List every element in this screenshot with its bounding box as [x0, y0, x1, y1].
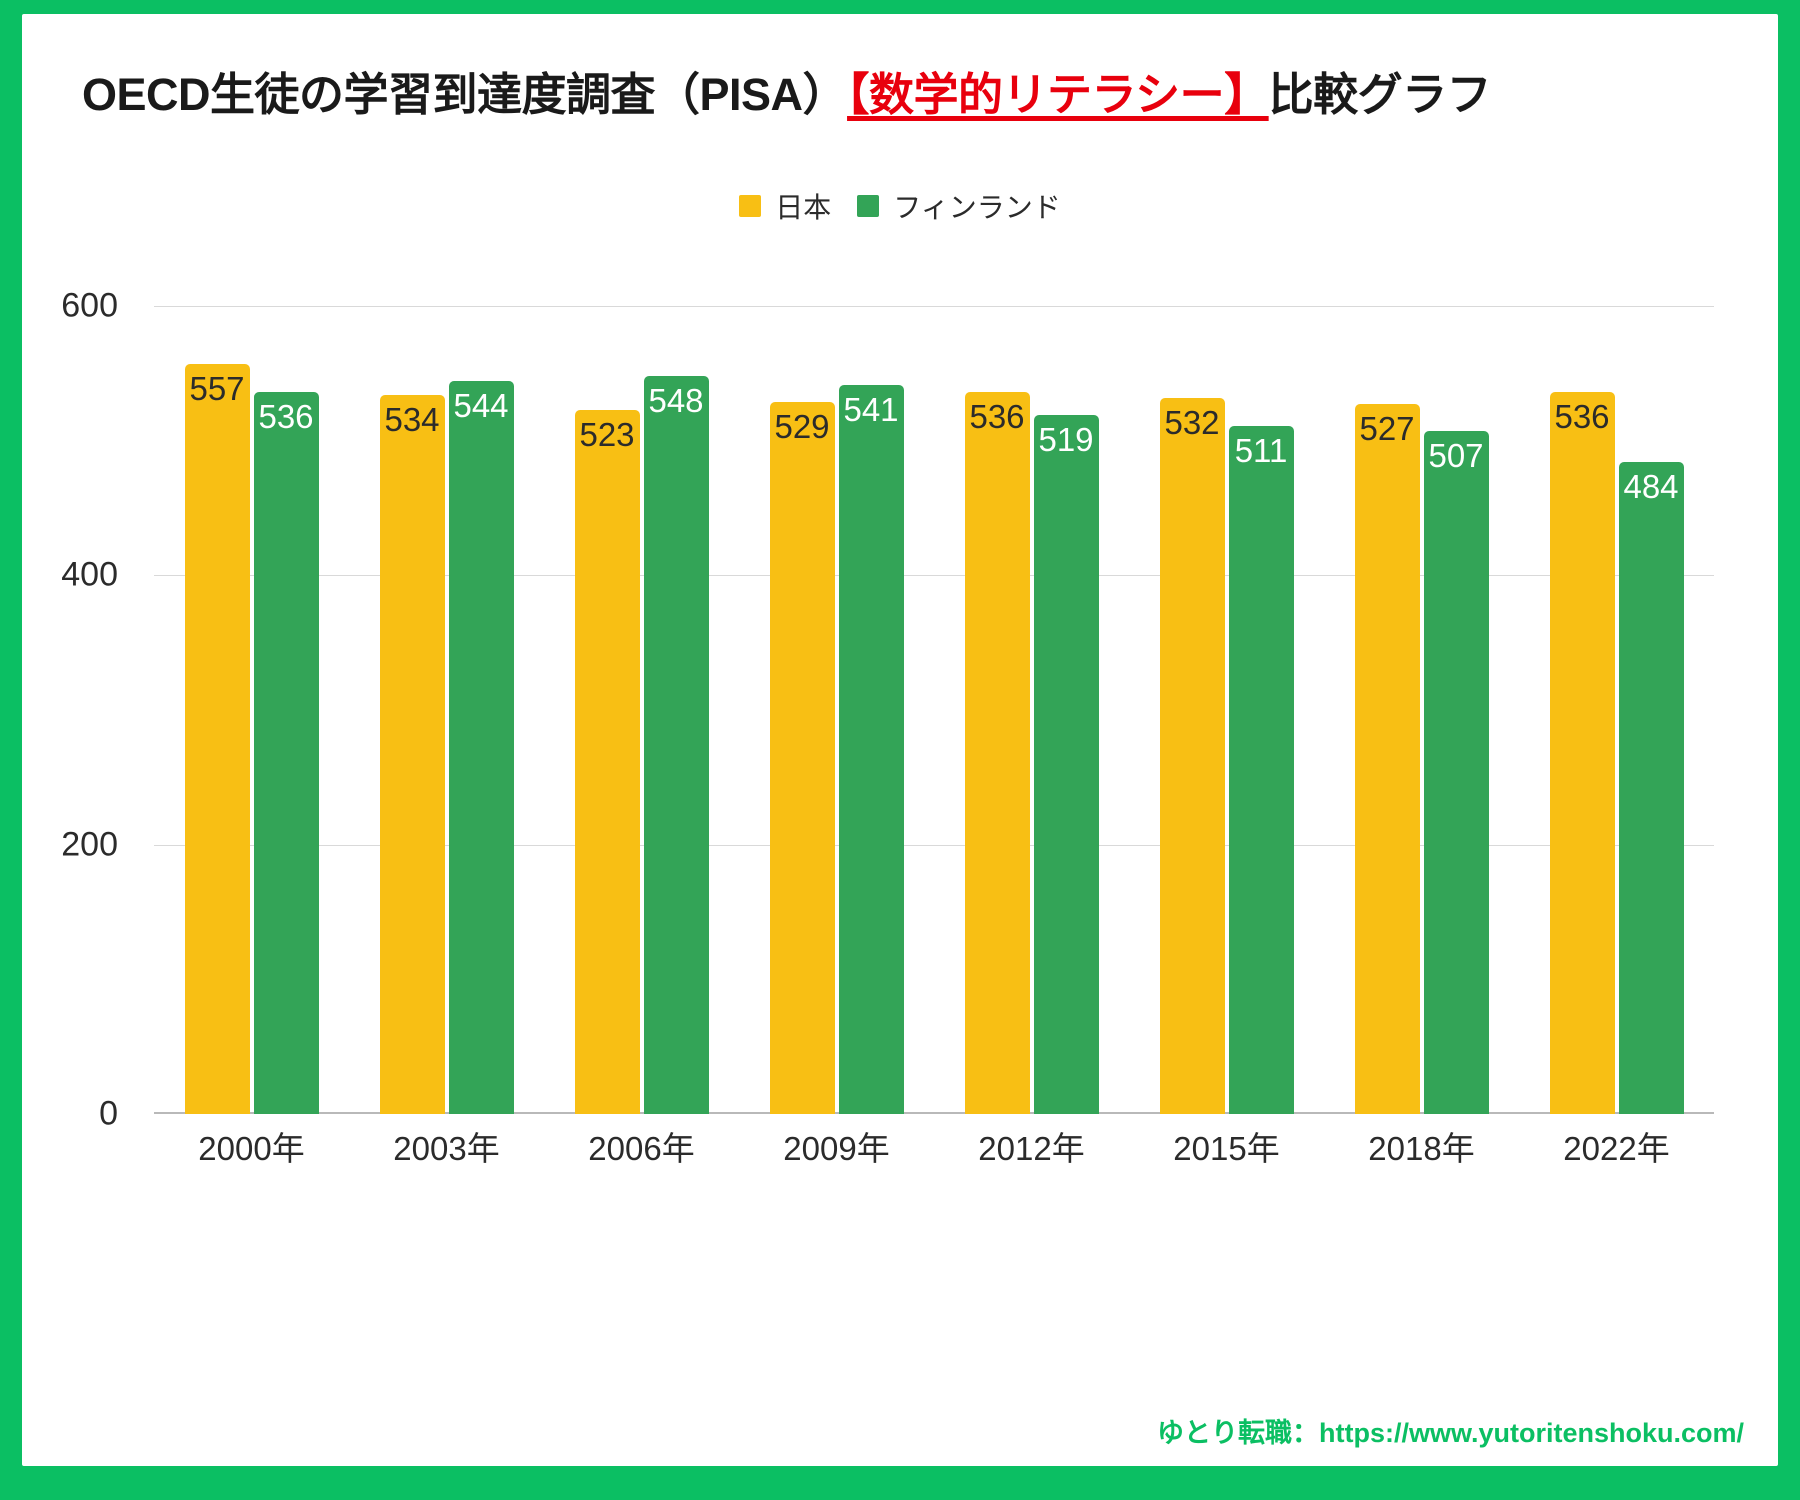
bar-finland[interactable]: 544: [449, 381, 514, 1114]
plot-area: 0200400600 55753653454452354852954153651…: [154, 279, 1714, 1114]
bar-value-label: 527: [1359, 412, 1414, 445]
bar-value-label: 541: [843, 393, 898, 426]
legend-item-japan[interactable]: 日本: [739, 186, 831, 226]
bar-group: 523548: [544, 279, 739, 1114]
title-highlight: 【数学的リテラシー】: [847, 69, 1269, 120]
bar-value-label: 534: [384, 403, 439, 436]
x-axis-label: 2000年: [154, 1122, 349, 1170]
bar-group: 529541: [739, 279, 934, 1114]
bar-finland[interactable]: 548: [644, 376, 709, 1114]
bar-value-label: 511: [1235, 434, 1288, 467]
bar-value-label: 507: [1428, 439, 1483, 472]
bar-value-label: 536: [258, 400, 313, 433]
footer-credit[interactable]: ゆとり転職：https://www.yutoritenshoku.com/: [1157, 1411, 1744, 1450]
bar-japan[interactable]: 534: [380, 395, 445, 1114]
page-title: OECD生徒の学習到達度調査（PISA）【数学的リテラシー】比較グラフ: [82, 58, 1722, 123]
legend-item-finland[interactable]: フィンランド: [857, 186, 1060, 226]
title-suffix: 比較グラフ: [1269, 69, 1492, 120]
x-axis-label: 2012年: [934, 1122, 1129, 1170]
x-axis-label: 2006年: [544, 1122, 739, 1170]
bar-group: 536484: [1519, 279, 1714, 1114]
x-axis-labels: 2000年2003年2006年2009年2012年2015年2018年2022年: [154, 1122, 1714, 1170]
x-axis-label: 2015年: [1129, 1122, 1324, 1170]
x-axis-label: 2022年: [1519, 1122, 1714, 1170]
bar-finland[interactable]: 511: [1229, 426, 1294, 1114]
bar-japan[interactable]: 536: [965, 392, 1030, 1114]
x-axis-label: 2003年: [349, 1122, 544, 1170]
bar-finland[interactable]: 541: [839, 385, 904, 1114]
bar-value-label: 536: [969, 400, 1024, 433]
bar-value-label: 536: [1554, 400, 1609, 433]
legend-swatch-finland: [857, 195, 879, 217]
bar-value-label: 544: [453, 389, 508, 422]
bar-finland[interactable]: 519: [1034, 415, 1099, 1114]
legend-label-finland: フィンランド: [893, 186, 1060, 226]
y-axis-tick-label: 400: [0, 556, 118, 595]
legend-label-japan: 日本: [775, 186, 831, 226]
bar-group: 557536: [154, 279, 349, 1114]
bar-value-label: 557: [189, 372, 244, 405]
bar-group: 536519: [934, 279, 1129, 1114]
bar-finland[interactable]: 484: [1619, 462, 1684, 1114]
bar-japan[interactable]: 557: [185, 364, 250, 1114]
bar-value-label: 532: [1164, 406, 1219, 439]
y-axis-tick-label: 200: [0, 825, 118, 864]
bar-value-label: 548: [648, 384, 703, 417]
x-axis-label: 2009年: [739, 1122, 934, 1170]
bar-finland[interactable]: 507: [1424, 431, 1489, 1114]
bar-japan[interactable]: 527: [1355, 404, 1420, 1114]
bar-groups: 5575365345445235485295415365195325115275…: [154, 279, 1714, 1114]
y-axis-tick-label: 0: [0, 1095, 118, 1134]
bar-japan[interactable]: 536: [1550, 392, 1615, 1114]
bar-value-label: 519: [1038, 423, 1093, 456]
title-prefix: OECD生徒の学習到達度調査（PISA）: [82, 69, 847, 120]
bar-value-label: 484: [1623, 470, 1678, 503]
x-axis-label: 2018年: [1324, 1122, 1519, 1170]
bar-japan[interactable]: 529: [770, 402, 835, 1114]
bar-group: 534544: [349, 279, 544, 1114]
bar-group: 527507: [1324, 279, 1519, 1114]
screenshot-root: OECD生徒の学習到達度調査（PISA）【数学的リテラシー】比較グラフ 日本 フ…: [0, 0, 1800, 1500]
y-axis-tick-label: 600: [0, 286, 118, 325]
bar-value-label: 523: [579, 418, 634, 451]
bar-japan[interactable]: 523: [575, 410, 640, 1114]
chart-card: OECD生徒の学習到達度調査（PISA）【数学的リテラシー】比較グラフ 日本 フ…: [22, 14, 1778, 1466]
bar-value-label: 529: [774, 410, 829, 443]
bar-group: 532511: [1129, 279, 1324, 1114]
legend-swatch-japan: [739, 195, 761, 217]
bar-finland[interactable]: 536: [254, 392, 319, 1114]
bar-japan[interactable]: 532: [1160, 398, 1225, 1114]
chart-legend: 日本 フィンランド: [22, 186, 1778, 226]
